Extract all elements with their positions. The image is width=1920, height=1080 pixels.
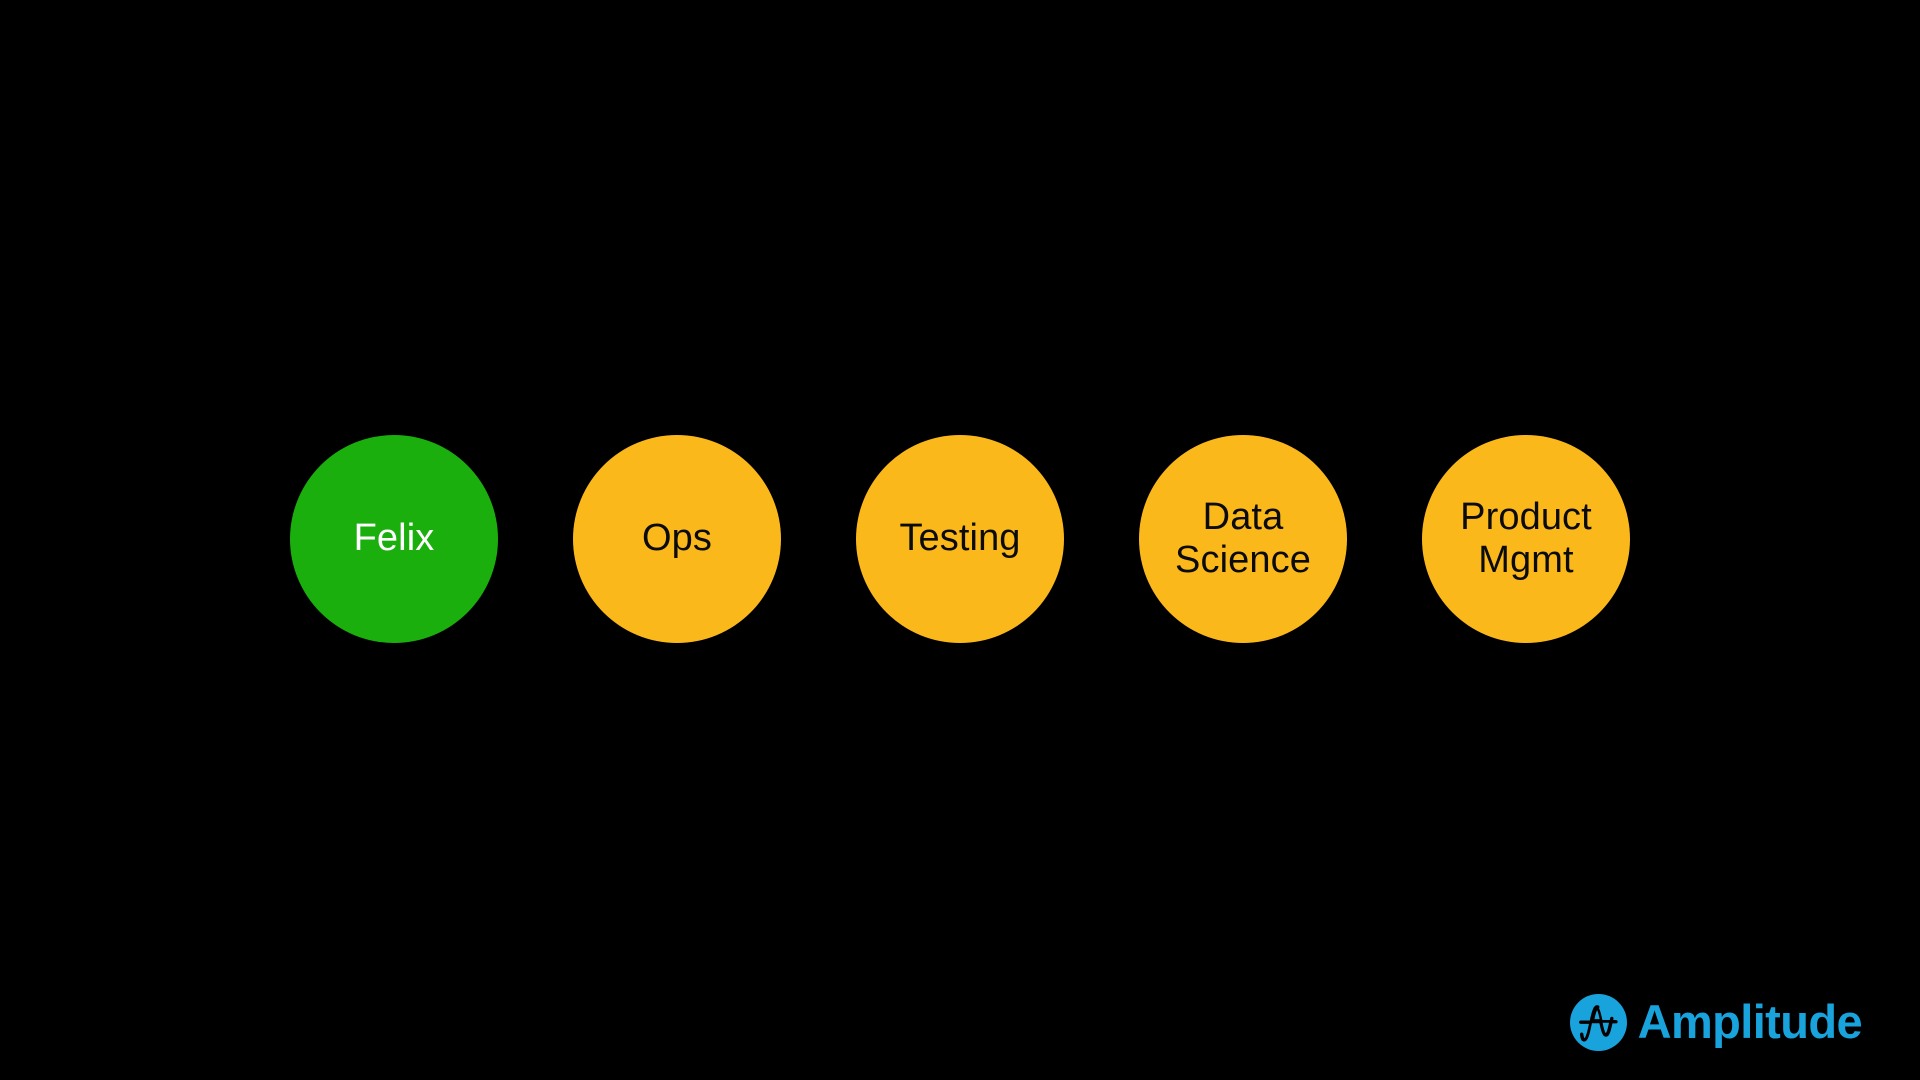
node-label-ops: Ops: [634, 517, 720, 560]
node-label-data-science: Data Science: [1167, 496, 1319, 583]
slide-canvas: Felix Ops Testing Data Science Product M…: [0, 0, 1920, 1080]
amplitude-a-wave-icon: [1570, 994, 1627, 1051]
node-circle-ops[interactable]: Ops: [573, 435, 781, 643]
node-circle-row: Felix Ops Testing Data Science Product M…: [0, 435, 1920, 643]
node-circle-data-science[interactable]: Data Science: [1139, 435, 1347, 643]
node-label-testing: Testing: [891, 517, 1028, 560]
node-label-product-mgmt: Product Mgmt: [1452, 496, 1600, 583]
node-circle-felix[interactable]: Felix: [290, 435, 498, 643]
amplitude-logo: Amplitude: [1570, 992, 1862, 1052]
amplitude-wordmark: Amplitude: [1638, 998, 1862, 1045]
node-label-felix: Felix: [346, 517, 443, 560]
node-circle-testing[interactable]: Testing: [856, 435, 1064, 643]
node-circle-product-mgmt[interactable]: Product Mgmt: [1422, 435, 1630, 643]
